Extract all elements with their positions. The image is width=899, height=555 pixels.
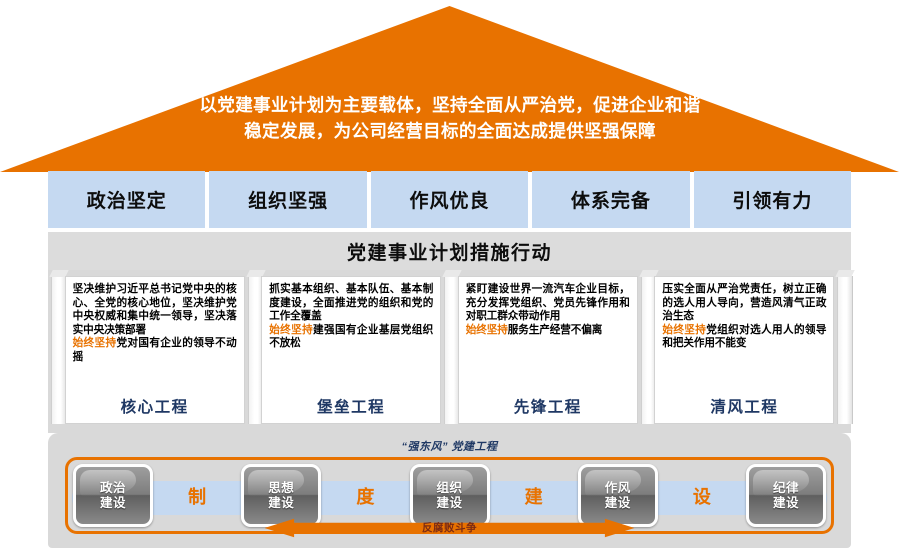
foundation-label: “强东风” 党建工程 bbox=[48, 438, 851, 454]
roof-triangle-shape bbox=[0, 6, 899, 172]
card-fortress-title: 堡垒工程 bbox=[262, 395, 440, 417]
anti-corruption-arrow: 反腐败斗争 bbox=[265, 517, 635, 539]
pillar-separator-3 bbox=[638, 270, 655, 433]
foundation-box-ideological-line1: 思想 bbox=[268, 481, 294, 495]
foundation-box-organizational-line2: 建设 bbox=[436, 496, 462, 510]
pillar-header-conduct[interactable]: 作风优良 bbox=[371, 171, 528, 228]
pillar-header-political[interactable]: 政治坚定 bbox=[48, 171, 205, 228]
foundation-box-discipline-line2: 建设 bbox=[773, 496, 799, 510]
card-clean-highlight: 始终坚持 bbox=[662, 324, 706, 336]
foundation-box-conduct-line2: 建设 bbox=[605, 496, 631, 510]
foundation-box-ideological-label: 思想 建设 bbox=[268, 481, 294, 511]
anti-corruption-label: 反腐败斗争 bbox=[265, 520, 635, 535]
foundation-box-political-line1: 政治 bbox=[100, 481, 126, 495]
card-vanguard-text: 紧盯建设世界一流汽车企业目标，充分发挥党组织、党员先锋作用和对职工群众带动作用 bbox=[466, 283, 630, 322]
card-core-text: 坚决维护习近平总书记党中央的核心、全党的核心地位，坚决维护党中央权威和集中统一领… bbox=[73, 283, 237, 336]
card-core-body: 坚决维护习近平总书记党中央的核心、全党的核心地位，坚决维护党中央权威和集中统一领… bbox=[73, 283, 237, 365]
foundation-connector-2: 度 bbox=[350, 483, 380, 509]
house-body: 政治坚定 组织坚强 作风优良 体系完备 引领有力 党建事业计划措施行动 坚决维护… bbox=[48, 171, 851, 548]
card-vanguard-title: 先锋工程 bbox=[459, 395, 637, 417]
pillar-separator-left bbox=[48, 270, 65, 433]
action-band: 党建事业计划措施行动 bbox=[48, 232, 851, 270]
house-diagram: 以党建事业计划为主要载体，坚持全面从严治党，促进企业和谐稳定发展，为公司经营目标… bbox=[0, 0, 899, 555]
card-vanguard-text2: 服务生产经营不偏离 bbox=[508, 324, 602, 336]
pillar-separator-2 bbox=[441, 270, 458, 433]
foundation-section: “强东风” 党建工程 政治 建设 制 思想 建设 bbox=[48, 433, 851, 548]
card-clean[interactable]: 压实全面从严治党责任，树立正确的选人用人导向，营造风清气正政治生态 始终坚持党组… bbox=[654, 276, 834, 424]
foundation-box-conduct-line1: 作风 bbox=[605, 481, 631, 495]
card-vanguard-body: 紧盯建设世界一流汽车企业目标，充分发挥党组织、党员先锋作用和对职工群众带动作用 … bbox=[466, 283, 630, 337]
foundation-box-organizational-label: 组织 建设 bbox=[436, 481, 462, 511]
foundation-box-discipline-label: 纪律 建设 bbox=[773, 481, 799, 511]
foundation-connector-4: 设 bbox=[687, 483, 717, 509]
roof-section: 以党建事业计划为主要载体，坚持全面从严治党，促进企业和谐稳定发展，为公司经营目标… bbox=[0, 6, 899, 172]
card-vanguard[interactable]: 紧盯建设世界一流汽车企业目标，充分发挥党组织、党员先锋作用和对职工群众带动作用 … bbox=[458, 276, 638, 424]
foundation-box-political[interactable]: 政治 建设 bbox=[73, 464, 153, 527]
roof-statement-text: 以党建事业计划为主要载体，坚持全面从严治党，促进企业和谐稳定发展，为公司经营目标… bbox=[196, 92, 704, 144]
foundation-box-organizational-line1: 组织 bbox=[436, 481, 462, 495]
card-column-core: 坚决维护习近平总书记党中央的核心、全党的核心地位，坚决维护党中央权威和集中统一领… bbox=[65, 270, 245, 433]
foundation-box-discipline-line1: 纪律 bbox=[773, 481, 799, 495]
pillar-card-row: 坚决维护习近平总书记党中央的核心、全党的核心地位，坚决维护党中央权威和集中统一领… bbox=[48, 270, 851, 433]
foundation-box-political-line2: 建设 bbox=[100, 496, 126, 510]
card-fortress-text: 抓实基本组织、基本队伍、基本制度建设，全面推进党的组织和党的工作全覆盖 bbox=[269, 283, 433, 322]
card-fortress-highlight: 始终坚持 bbox=[269, 324, 313, 336]
foundation-box-discipline[interactable]: 纪律 建设 bbox=[746, 464, 826, 527]
card-core[interactable]: 坚决维护习近平总书记党中央的核心、全党的核心地位，坚决维护党中央权威和集中统一领… bbox=[65, 276, 245, 424]
card-column-vanguard: 紧盯建设世界一流汽车企业目标，充分发挥党组织、党员先锋作用和对职工群众带动作用 … bbox=[458, 270, 638, 433]
card-core-highlight: 始终坚持 bbox=[73, 337, 117, 349]
pillar-separator-right bbox=[834, 270, 851, 433]
pillar-column-bar bbox=[837, 276, 853, 424]
card-clean-body: 压实全面从严治党责任，树立正确的选人用人导向，营造风清气正政治生态 始终坚持党组… bbox=[662, 283, 826, 351]
pillar-header-organization[interactable]: 组织坚强 bbox=[209, 171, 366, 228]
card-core-title: 核心工程 bbox=[66, 395, 244, 417]
card-clean-title: 清风工程 bbox=[655, 395, 833, 417]
card-fortress[interactable]: 抓实基本组织、基本队伍、基本制度建设，全面推进党的组织和党的工作全覆盖 始终坚持… bbox=[261, 276, 441, 424]
pillar-separator-1 bbox=[245, 270, 262, 433]
foundation-box-conduct-label: 作风 建设 bbox=[605, 481, 631, 511]
card-column-clean: 压实全面从严治党责任，树立正确的选人用人导向，营造风清气正政治生态 始终坚持党组… bbox=[654, 270, 834, 433]
foundation-connector-3: 建 bbox=[519, 483, 549, 509]
foundation-box-political-label: 政治 建设 bbox=[100, 481, 126, 511]
card-clean-text: 压实全面从严治党责任，树立正确的选人用人导向，营造风清气正政治生态 bbox=[662, 283, 826, 322]
card-column-fortress: 抓实基本组织、基本队伍、基本制度建设，全面推进党的组织和党的工作全覆盖 始终坚持… bbox=[261, 270, 441, 433]
card-fortress-body: 抓实基本组织、基本队伍、基本制度建设，全面推进党的组织和党的工作全覆盖 始终坚持… bbox=[269, 283, 433, 351]
pillar-header-system[interactable]: 体系完备 bbox=[532, 171, 689, 228]
foundation-connector-1: 制 bbox=[182, 483, 212, 509]
card-vanguard-highlight: 始终坚持 bbox=[466, 324, 508, 336]
pillar-header-leadership[interactable]: 引领有力 bbox=[694, 171, 851, 228]
pillar-header-row: 政治坚定 组织坚强 作风优良 体系完备 引领有力 bbox=[48, 171, 851, 228]
foundation-box-ideological-line2: 建设 bbox=[268, 496, 294, 510]
